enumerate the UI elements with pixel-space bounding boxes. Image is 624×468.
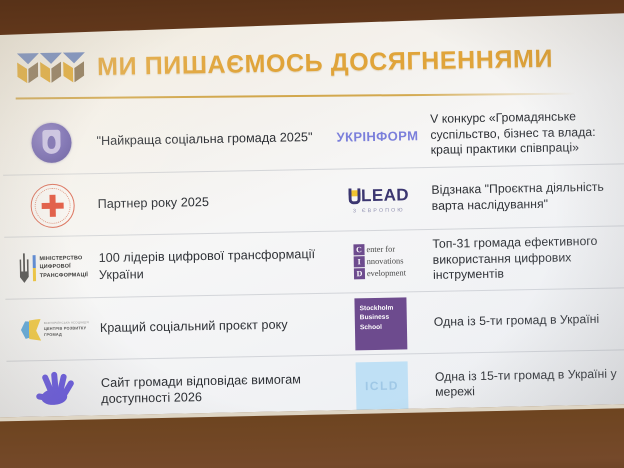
- ukrinform-wordmark: УКРІНФОРМ: [336, 128, 418, 144]
- achievement-text: Топ-31 громада ефективного використання …: [428, 234, 623, 284]
- hand-icon: [36, 371, 77, 412]
- achievement-text: 100 лідерів цифрової трансформації Украї…: [94, 246, 317, 282]
- achievement-row: Stockholm Business School Одна із 5-ти г…: [323, 288, 624, 356]
- crg-label: ВСЕУКРАЇНСЬКА АСОЦІАЦІЯ ЦЕНТРІВ РОЗВИТКУ…: [44, 320, 89, 337]
- accessibility-hand-logo: [15, 364, 98, 419]
- ulead-wordmark: LEAD: [361, 185, 409, 206]
- hromada-coat-of-arms-emblem: [10, 114, 93, 170]
- achievement-text: Сайт громади відповідає вимогам доступно…: [97, 371, 320, 407]
- achievement-row: ВСЕУКРАЇНСЬКА АСОЦІАЦІЯ ЦЕНТРІВ РОЗВИТКУ…: [5, 294, 324, 362]
- achievement-text: Одна із 5-ти громад в Україні: [430, 312, 600, 330]
- mintsifra-label: МІНІСТЕРСТВО ЦИФРОВОЇ ТРАНСФОРМАЦІЇ: [39, 255, 88, 280]
- flag-bar-icon: [32, 255, 35, 281]
- crest-icon: [31, 122, 72, 163]
- gem-icon: [21, 319, 41, 341]
- achievement-row: "Найкраща соціальна громада 2025": [2, 106, 321, 176]
- achievement-text: Відзнака "Проєктна діяльність варта насл…: [427, 180, 622, 214]
- ministry-of-digital-transformation-logo: МІНІСТЕРСТВО ЦИФРОВОЇ ТРАНСФОРМАЦІЇ: [12, 240, 95, 294]
- chevron-icon-2: [40, 53, 63, 83]
- icld-wordmark: ICLD: [356, 361, 409, 410]
- achievement-row: МІНІСТЕРСТВО ЦИФРОВОЇ ТРАНСФОРМАЦІЇ 100 …: [4, 232, 323, 300]
- ulead-subtitle: З ЄВРОПОЮ: [348, 207, 409, 214]
- achievement-row: Партнер року 2025: [3, 170, 322, 238]
- achievement-text: Одна із 15-ти громад в Україні у мережі: [431, 366, 624, 400]
- title-divider: [16, 93, 576, 100]
- achievement-text: Кращий соціальний проєкт року: [96, 317, 288, 337]
- projected-slide-photo: МИ ПИШАЄМОСЬ ДОСЯГНЕННЯМИ "Найкраща соці…: [0, 0, 624, 468]
- chevron-icon-1: [17, 53, 40, 83]
- ulead-mark: LEAD З ЄВРОПОЮ: [348, 185, 409, 214]
- center-for-innovations-development-logo: Center for Innovations Development: [330, 234, 429, 289]
- slide-header: МИ ПИШАЄМОСЬ ДОСЯГНЕННЯМИ: [17, 44, 553, 84]
- achievements-columns: "Найкраща соціальна громада 2025" Партне…: [2, 100, 624, 423]
- achievement-row: УКРІНФОРМ V конкурс «Громадянське суспіл…: [320, 100, 624, 170]
- u-lead-with-europe-logo: LEAD З ЄВРОПОЮ: [329, 172, 428, 227]
- achievement-text: "Найкраща соціальна громада 2025": [92, 130, 312, 150]
- three-chevron-logo: [17, 52, 86, 83]
- achievement-row: LEAD З ЄВРОПОЮ Відзнака "Проєктна діяльн…: [321, 164, 624, 232]
- cid-mark: Center for Innovations Development: [353, 243, 406, 279]
- page-title: МИ ПИШАЄМОСЬ ДОСЯГНЕННЯМИ: [97, 44, 553, 81]
- left-column: "Найкраща соціальна громада 2025" Партне…: [2, 106, 326, 424]
- crg-mark: ВСЕУКРАЇНСЬКА АСОЦІАЦІЯ ЦЕНТРІВ РОЗВИТКУ…: [21, 318, 89, 341]
- right-column: УКРІНФОРМ V конкурс «Громадянське суспіл…: [320, 100, 624, 418]
- slide-surface: МИ ПИШАЄМОСЬ ДОСЯГНЕННЯМИ "Найкраща соці…: [0, 0, 624, 426]
- sbs-mark: Stockholm Business School: [354, 297, 407, 350]
- centre-for-community-development-logo: ВСЕУКРАЇНСЬКА АСОЦІАЦІЯ ЦЕНТРІВ РОЗВИТКУ…: [13, 302, 96, 356]
- achievement-row: Center for Innovations Development Топ-3…: [322, 226, 624, 294]
- stockholm-business-school-logo: Stockholm Business School: [331, 296, 430, 351]
- ukrainian-red-cross-society-logo: [11, 178, 94, 232]
- ukrinform-logo: УКРІНФОРМ: [328, 108, 427, 165]
- u-letter-icon: [348, 188, 360, 204]
- chevron-icon-3: [63, 52, 86, 82]
- trident-icon: [19, 253, 29, 283]
- red-cross-icon: [30, 183, 75, 228]
- icld-logo: ICLD: [333, 358, 432, 414]
- achievement-text: Партнер року 2025: [94, 194, 210, 212]
- achievement-text: V конкурс «Громадянське суспільство, біз…: [426, 109, 621, 159]
- mintsifra-mark: МІНІСТЕРСТВО ЦИФРОВОЇ ТРАНСФОРМАЦІЇ: [19, 252, 88, 283]
